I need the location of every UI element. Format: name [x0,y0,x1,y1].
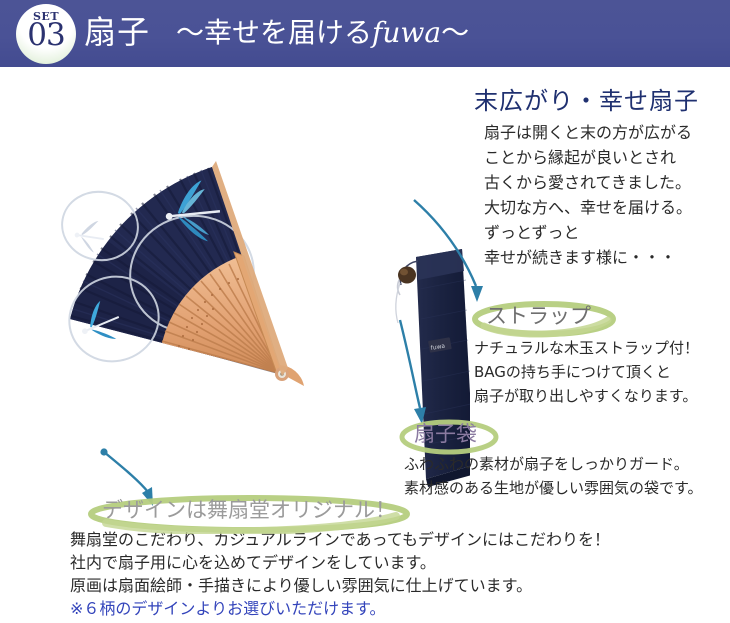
right-panel-line: 幸せが続きます様に・・・ [484,245,730,270]
bottom-note: ※６柄のデザインよりお選びいただけます。 [70,597,720,620]
page-title: 扇子 [84,12,150,52]
fan-leaf [57,161,304,386]
right-panel-line: ずっとずっと [484,220,730,245]
callout-strap-label: ストラップ [470,300,611,332]
right-panel-line: 大切な方へ、幸せを届ける。 [484,195,730,220]
callout-bag: 扇子袋 [398,418,497,450]
bottom-description: 舞扇堂のこだわり、カジュアルラインであってもデザインにはこだわりを！ 社内で扇子… [70,528,720,620]
right-panel-line: 古くから愛されてきました。 [484,170,730,195]
subtitle-pre: 〜幸せを届ける [176,16,372,49]
callout-strap-line: ナチュラルな木玉ストラップ付！ [474,336,699,360]
right-panel-heading: 末広がり・幸せ扇子 [474,86,699,116]
product-page: SET 03 扇子 〜幸せを届けるfuwa〜 [0,0,730,623]
callout-bag-description: ふわふわの素材が扇子をしっかりガード。 素材感のある生地が優しい雰囲気の袋です。 [404,452,703,500]
bottom-line: 舞扇堂のこだわり、カジュアルラインであってもデザインにはこだわりを！ [70,528,720,551]
callout-bag-label-wrap: 扇子袋 [398,418,497,450]
wooden-bead-strap [396,261,418,323]
bottom-line: 原画は扇面絵師・手描きにより優しい雰囲気に仕上げています。 [70,574,720,597]
callout-design-label-wrap: デザインは舞扇堂オリジナル！ [86,494,416,526]
bottom-line: 社内で扇子用に心を込めてデザインをしています。 [70,551,720,574]
header-banner: SET 03 扇子 〜幸せを届けるfuwa〜 [0,0,730,67]
callout-bag-label: 扇子袋 [398,418,497,450]
callout-bag-line: ふわふわの素材が扇子をしっかりガード。 [404,452,703,476]
callout-strap-label-wrap: ストラップ [470,300,611,332]
callout-bag-line: 素材感のある生地が優しい雰囲気の袋です。 [404,476,703,500]
callout-strap-line: 扇子が取り出しやすくなります。 [474,384,699,408]
callout-design: デザインは舞扇堂オリジナル！ [86,494,416,526]
right-panel-body: 扇子は開くと末の方が広がる ことから縁起が良いとされ 古くから愛されてきました。… [484,120,730,270]
right-panel-line: 扇子は開くと末の方が広がる [484,120,730,145]
subtitle-latin: fuwa [372,16,441,49]
right-panel-line: ことから縁起が良いとされ [484,145,730,170]
callout-strap-line: BAGの持ち手につけて頂くと [474,360,699,384]
set-number-badge: SET 03 [16,4,76,64]
page-title-text: 扇子 [84,13,150,51]
header-subtitle: 〜幸せを届けるfuwa〜 [176,14,469,52]
dragonfly-motif-3 [73,219,106,254]
subtitle-post: 〜 [441,16,469,49]
badge-number: 03 [16,18,76,52]
callout-strap-description: ナチュラルな木玉ストラップ付！ BAGの持ち手につけて頂くと 扇子が取り出しやす… [474,336,699,408]
callout-strap: ストラップ [470,300,611,332]
callout-design-label: デザインは舞扇堂オリジナル！ [86,494,416,526]
